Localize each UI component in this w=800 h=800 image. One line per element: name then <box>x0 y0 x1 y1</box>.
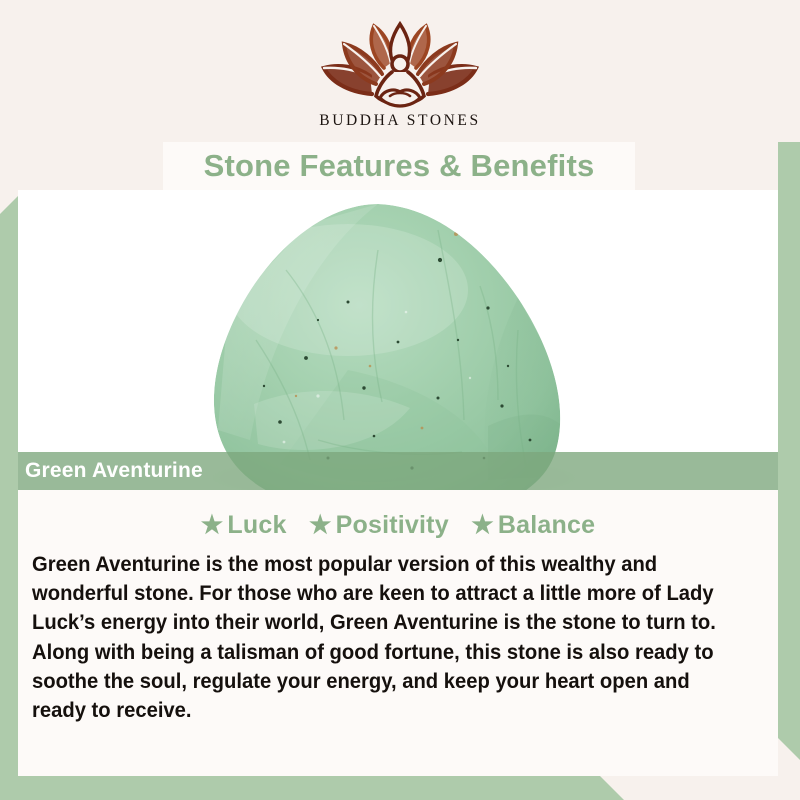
description-paragraph: Green Aventurine is the most popular ver… <box>32 550 720 725</box>
stone-name-label: Green Aventurine <box>25 459 203 483</box>
benefit-item-luck: ★Luck <box>201 510 287 540</box>
green-aventurine-stone-image <box>18 190 778 490</box>
benefit-label: Positivity <box>336 511 449 539</box>
benefit-label: Luck <box>227 511 286 539</box>
infographic-page: BUDDHA STONES Stone Features & Benefits <box>0 0 800 800</box>
star-icon: ★ <box>471 511 494 539</box>
frame-left-band <box>0 196 18 800</box>
brand-logo: BUDDHA STONES <box>285 18 515 130</box>
benefits-list: ★Luck ★Positivity ★Balance <box>18 490 778 540</box>
description-panel: ★Luck ★Positivity ★Balance Green Aventur… <box>18 490 778 776</box>
benefit-item-positivity: ★Positivity <box>309 510 449 540</box>
benefit-label: Balance <box>498 511 595 539</box>
benefit-item-balance: ★Balance <box>471 510 595 540</box>
stone-name-band: Green Aventurine <box>18 452 778 490</box>
header: BUDDHA STONES <box>0 0 800 142</box>
star-icon: ★ <box>201 511 224 539</box>
frame-bottom-band <box>0 776 800 800</box>
star-icon: ★ <box>309 511 332 539</box>
stone-photo: Green Aventurine <box>18 190 778 490</box>
lotus-meditation-icon <box>310 18 490 110</box>
page-title: Stone Features & Benefits <box>204 148 595 184</box>
title-banner: Stone Features & Benefits <box>163 142 635 190</box>
brand-name: BUDDHA STONES <box>285 112 515 130</box>
